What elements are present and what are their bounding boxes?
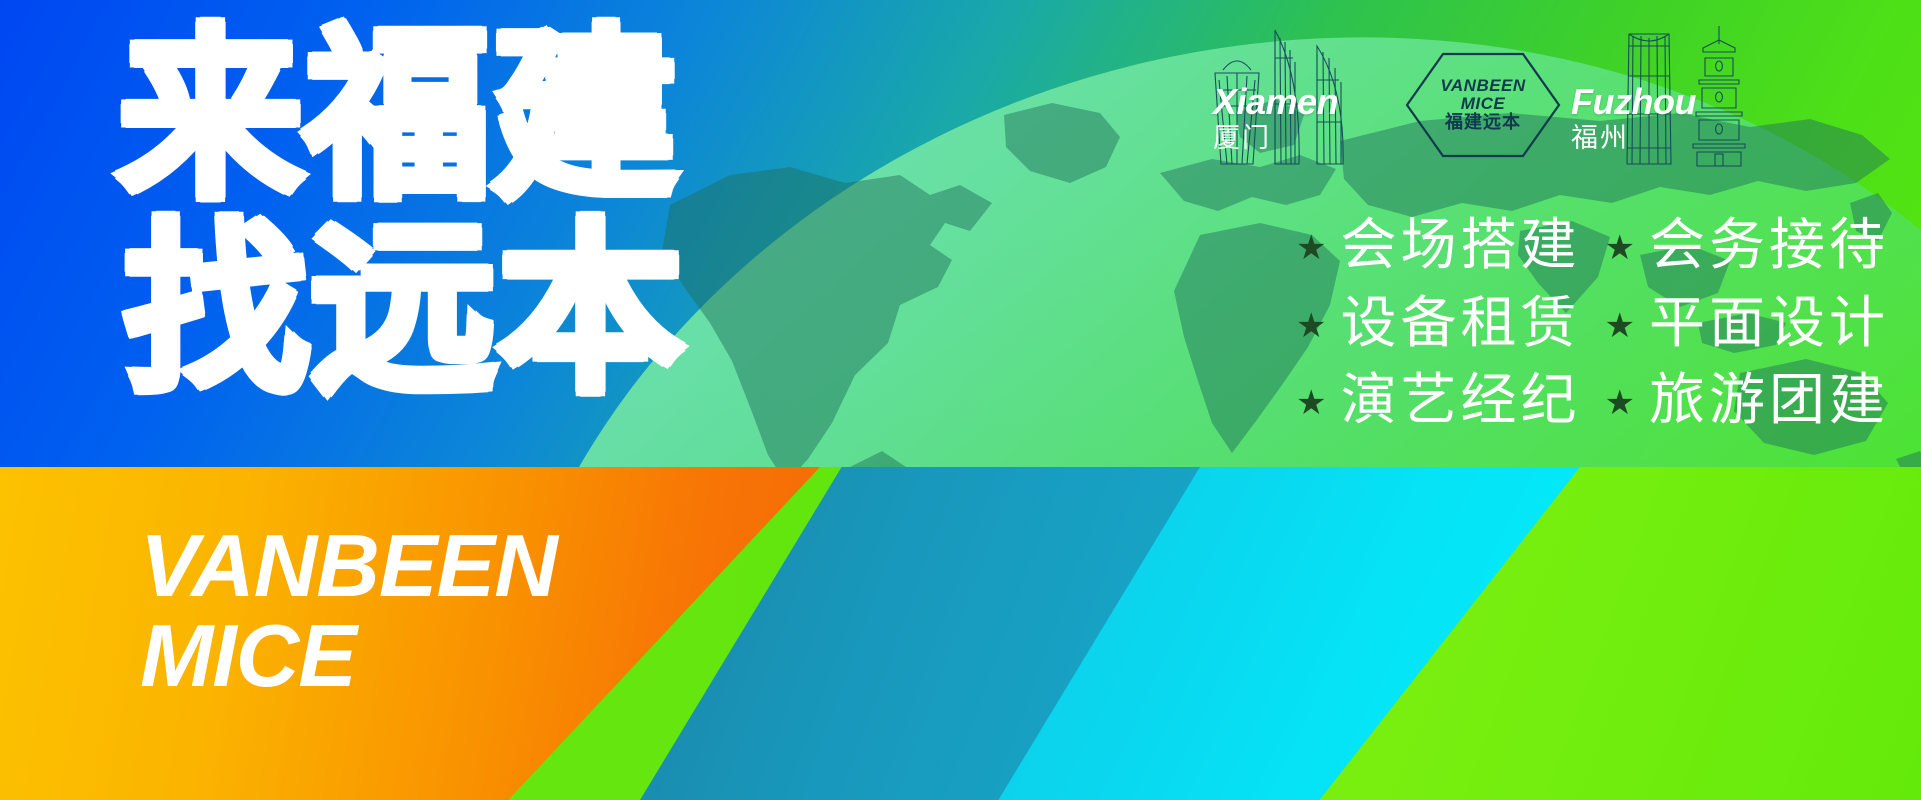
logo-text: VANBEEN MICE 福建远本 — [1440, 77, 1525, 132]
fuzhou-name-cn: 福州 — [1571, 125, 1696, 152]
star-icon: ★ — [1605, 309, 1635, 343]
footer-brand-line-1: VANBEEN — [140, 525, 557, 607]
logo-line-3: 福建远本 — [1440, 114, 1525, 132]
city-landmark-bar: Xiamen 厦门 VANBEEN MICE 福建远本 Fuzhou — [1205, 8, 1771, 168]
service-label: 平面设计 — [1649, 288, 1889, 360]
xiamen-name-en: Xiamen — [1213, 84, 1338, 120]
city-xiamen: Xiamen 厦门 — [1205, 18, 1395, 168]
promotional-banner: 来福建 找远本 — [0, 0, 1921, 800]
star-icon: ★ — [1605, 231, 1635, 265]
service-label: 演艺经纪 — [1341, 365, 1581, 437]
service-item: ★ 演艺经纪 — [1296, 365, 1580, 437]
service-label: 设备租赁 — [1341, 288, 1581, 360]
city-fuzhou: Fuzhou 福州 — [1571, 18, 1771, 168]
fuzhou-name-en: Fuzhou — [1571, 84, 1696, 120]
service-label: 会场搭建 — [1341, 210, 1581, 282]
headline-line-1: 来福建 — [118, 28, 685, 206]
star-icon: ★ — [1296, 231, 1326, 265]
xiamen-labels: Xiamen 厦门 — [1213, 84, 1338, 152]
service-item: ★ 会务接待 — [1605, 210, 1889, 282]
star-icon: ★ — [1296, 386, 1326, 420]
services-list: ★ 会场搭建 ★ 会务接待 ★ 设备租赁 ★ 平面设计 ★ 演艺经纪 ★ 旅游团… — [1296, 210, 1889, 437]
headline-line-2: 找远本 — [124, 222, 685, 400]
star-icon: ★ — [1296, 309, 1326, 343]
service-item: ★ 平面设计 — [1605, 288, 1889, 360]
service-item: ★ 旅游团建 — [1605, 365, 1889, 437]
vanbeen-mice-logo[interactable]: VANBEEN MICE 福建远本 — [1403, 50, 1563, 160]
service-label: 旅游团建 — [1649, 365, 1889, 437]
footer-brand: VANBEEN MICE — [140, 525, 557, 697]
page-title: 来福建 找远本 — [118, 28, 685, 399]
footer-bar: VANBEEN MICE — [0, 467, 1921, 800]
hero-section: 来福建 找远本 — [0, 0, 1921, 467]
xiamen-name-cn: 厦门 — [1213, 125, 1338, 152]
logo-line-2: MICE — [1440, 95, 1525, 112]
service-item: ★ 设备租赁 — [1296, 288, 1580, 360]
footer-brand-line-2: MICE — [140, 615, 557, 697]
service-item: ★ 会场搭建 — [1296, 210, 1580, 282]
fuzhou-labels: Fuzhou 福州 — [1571, 84, 1696, 152]
service-label: 会务接待 — [1649, 210, 1889, 282]
logo-line-1: VANBEEN — [1440, 77, 1525, 94]
star-icon: ★ — [1605, 386, 1635, 420]
